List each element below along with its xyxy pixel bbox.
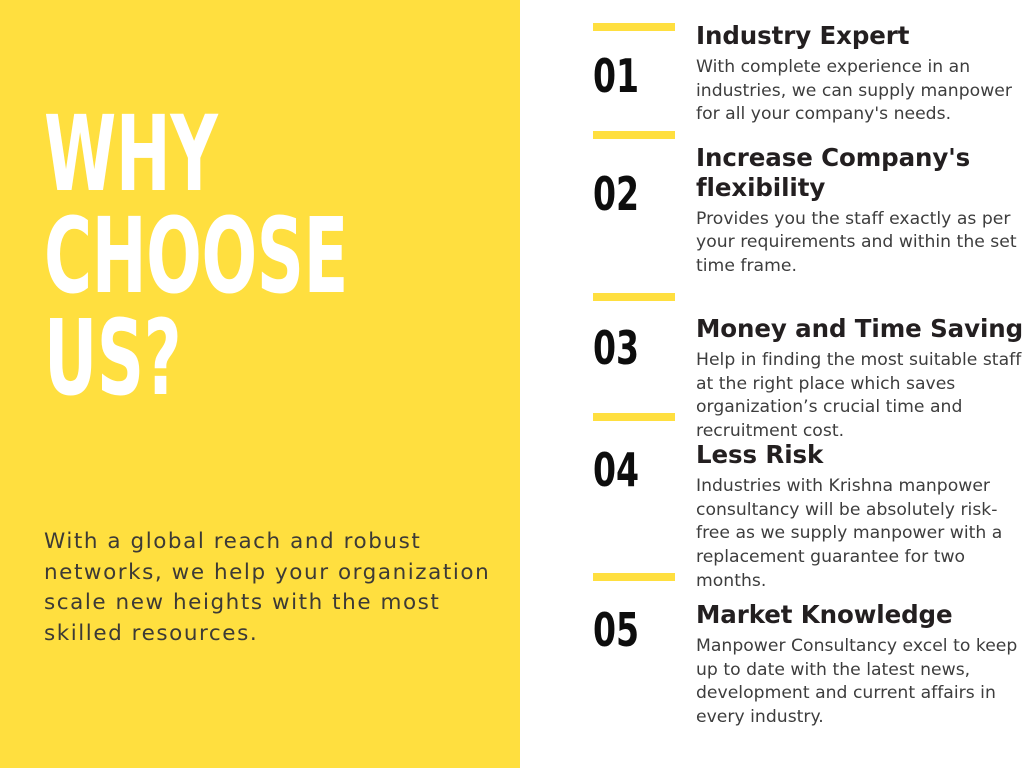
accent-rule: [593, 131, 675, 139]
item-body: Industry Expert With complete experience…: [696, 21, 1024, 127]
item-number: 02: [593, 171, 660, 217]
item-marker: 01: [593, 23, 677, 99]
item-marker: 04: [593, 413, 677, 493]
item-description: Provides you the staff exactly as per yo…: [696, 208, 1024, 279]
slide-canvas: WHY CHOOSE US? With a global reach and r…: [0, 0, 1024, 768]
benefits-list: 01 Industry Expert With complete experie…: [520, 0, 1024, 768]
item-number: 03: [593, 325, 660, 371]
accent-rule: [593, 293, 675, 301]
item-title: Less Risk: [696, 440, 1024, 470]
item-description: Help in finding the most suitable staff …: [696, 349, 1024, 444]
item-body: Money and Time Saving Help in finding th…: [696, 314, 1024, 444]
item-title: Market Knowledge: [696, 600, 1024, 630]
left-yellow-panel: WHY CHOOSE US? With a global reach and r…: [0, 0, 520, 768]
item-title: Money and Time Saving: [696, 314, 1024, 344]
item-description: With complete experience in an industrie…: [696, 56, 1024, 127]
item-marker: 05: [593, 573, 677, 653]
item-description: Industries with Krishna manpower consult…: [696, 475, 1024, 594]
page-title: WHY CHOOSE US?: [44, 104, 352, 410]
item-body: Market Knowledge Manpower Consultancy ex…: [696, 600, 1024, 730]
item-body: Less Risk Industries with Krishna manpow…: [696, 440, 1024, 594]
accent-rule: [593, 23, 675, 31]
item-number: 04: [593, 447, 660, 493]
item-title: Increase Company's flexibility: [696, 143, 1024, 203]
intro-paragraph: With a global reach and robust networks,…: [44, 527, 494, 649]
item-marker: 03: [593, 293, 677, 371]
accent-rule: [593, 413, 675, 421]
item-number: 05: [593, 607, 660, 653]
item-marker: 02: [593, 131, 677, 217]
item-number: 01: [593, 53, 660, 99]
item-body: Increase Company's flexibility Provides …: [696, 143, 1024, 279]
item-title: Industry Expert: [696, 21, 1024, 51]
item-description: Manpower Consultancy excel to keep up to…: [696, 635, 1024, 730]
accent-rule: [593, 573, 675, 581]
